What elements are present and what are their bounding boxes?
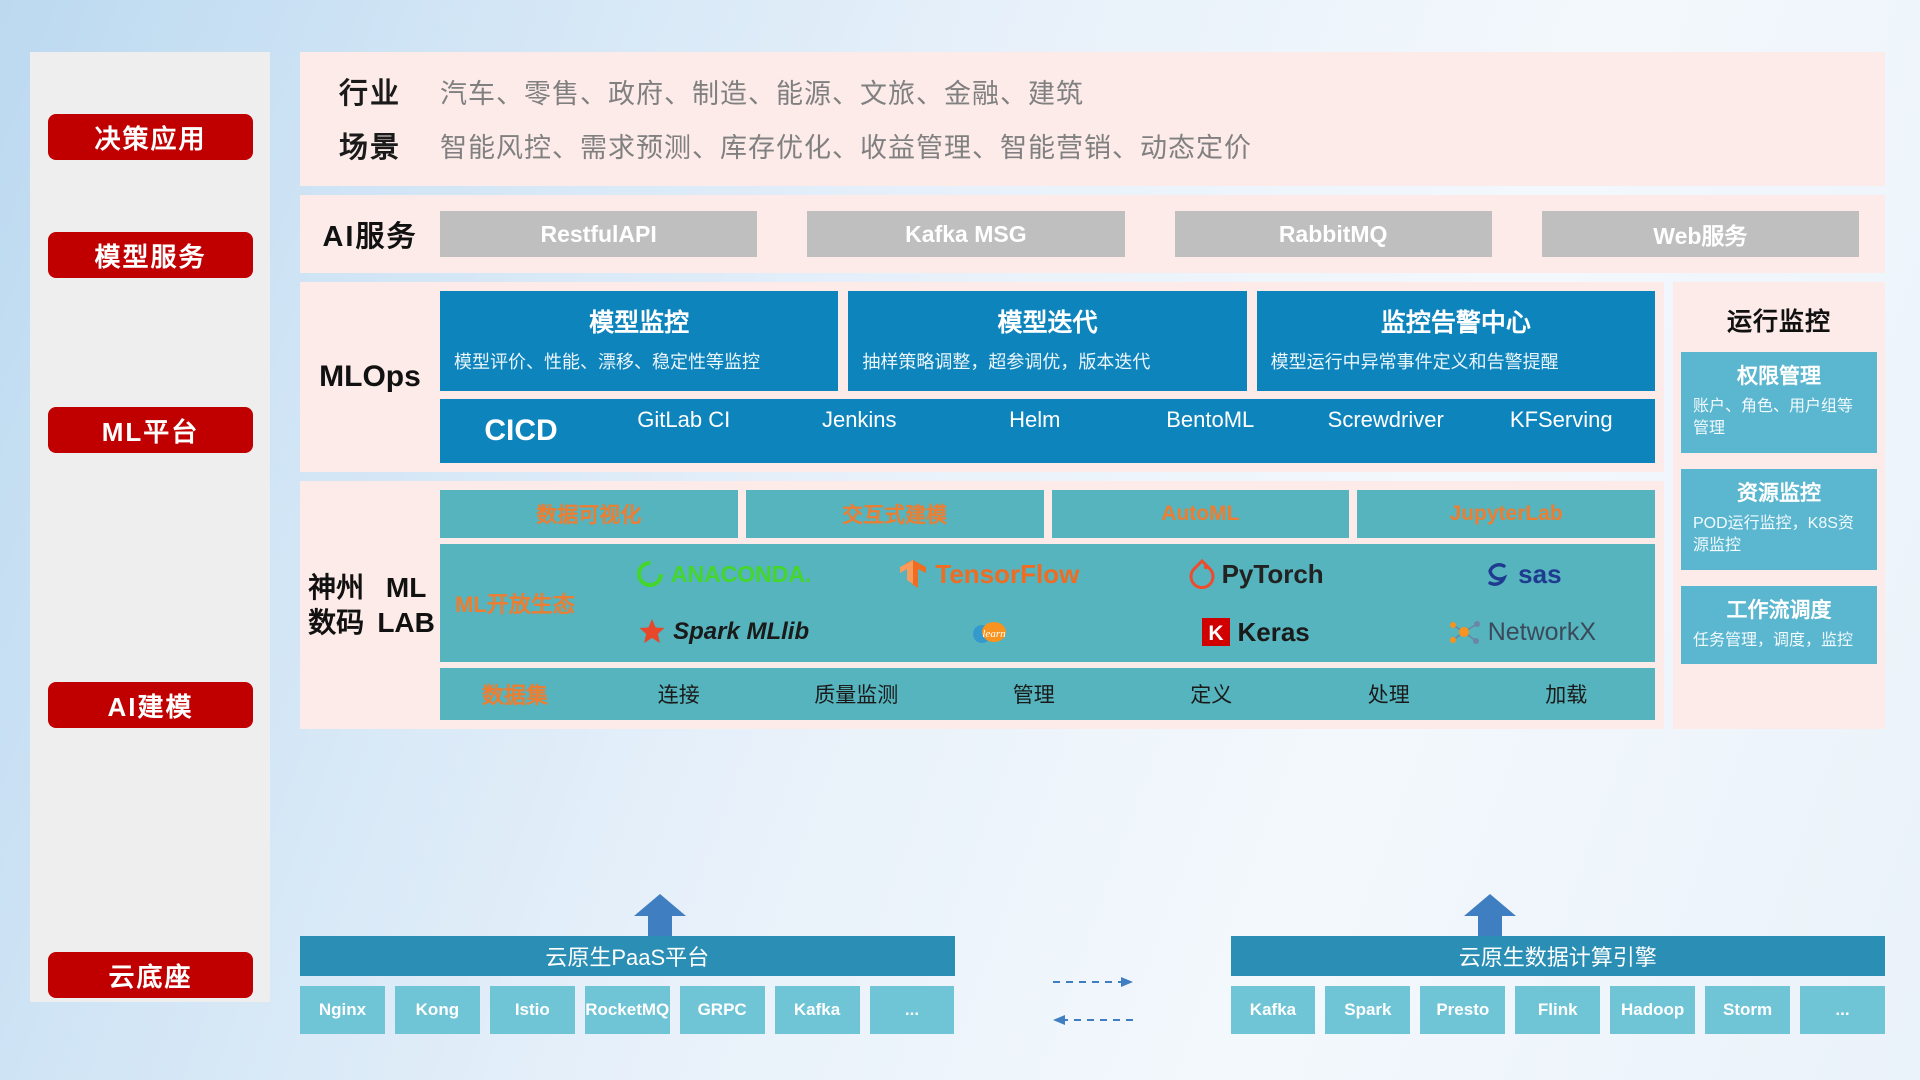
- chip-presto[interactable]: Presto: [1420, 986, 1505, 1034]
- monitor-card-desc: 账户、角色、用户组等管理: [1693, 396, 1865, 441]
- pytorch-icon: [1188, 559, 1216, 589]
- anaconda-label: ANACONDA.: [671, 561, 812, 588]
- dataset-key: 数据集: [440, 678, 590, 710]
- sas-logo: sas: [1389, 559, 1655, 590]
- networkx-logo: NetworkX: [1389, 617, 1655, 647]
- mlops-card-title: 模型迭代: [862, 303, 1232, 339]
- ai-service-restfulapi[interactable]: RestfulAPI: [440, 211, 757, 257]
- mlops-card-title: 模型监控: [454, 303, 824, 339]
- diagram-canvas: 决策应用 模型服务 ML平台 AI建模 云底座 行业 汽车、零售、政府、制造、能…: [0, 0, 1920, 1080]
- layer-label-model-service: 模型服务: [48, 232, 253, 278]
- ml-lab-tab-interactive-modeling[interactable]: 交互式建模: [746, 490, 1044, 538]
- cloud-paas-bar: 云原生PaaS平台: [300, 936, 955, 976]
- svg-text:learn: learn: [983, 628, 1007, 640]
- monitor-card-permission[interactable]: 权限管理 账户、角色、用户组等管理: [1681, 352, 1877, 453]
- mlops-cards: 模型监控 模型评价、性能、漂移、稳定性等监控 模型迭代 抽样策略调整，超参调优，…: [440, 291, 1655, 391]
- layer-label-ai-modeling: AI建模: [48, 682, 253, 728]
- up-arrow-right: [1464, 894, 1516, 936]
- bidirectional-connector: [1047, 936, 1139, 1046]
- monitor-card-title: 工作流调度: [1693, 594, 1865, 624]
- anaconda-logo: ANACONDA.: [590, 559, 856, 589]
- mlops-card-desc: 模型运行中异常事件定义和告警提醒: [1271, 349, 1641, 375]
- ml-open-ecosystem-row: ML开放生态 ANACONDA.: [440, 544, 1655, 662]
- mlops-card-model-iteration[interactable]: 模型迭代 抽样策略调整，超参调优，版本迭代: [848, 291, 1246, 391]
- pytorch-label: PyTorch: [1222, 559, 1324, 590]
- ml-lab-key-line1: 神州数码: [300, 570, 372, 640]
- mlops-card-desc: 抽样策略调整，超参调优，版本迭代: [862, 349, 1232, 375]
- monitor-card-title: 资源监控: [1693, 477, 1865, 507]
- layer-label-ml-platform: ML平台: [48, 407, 253, 453]
- chip-hadoop[interactable]: Hadoop: [1610, 986, 1695, 1034]
- dataset-row: 数据集 连接 质量监测 管理 定义 处理 加载: [440, 668, 1655, 720]
- monitor-card-resource[interactable]: 资源监控 POD运行监控，K8S资源监控: [1681, 469, 1877, 570]
- monitor-card-desc: POD运行监控，K8S资源监控: [1693, 513, 1865, 558]
- up-arrow-left: [634, 894, 686, 936]
- mlops-card-alert-center[interactable]: 监控告警中心 模型运行中异常事件定义和告警提醒: [1257, 291, 1655, 391]
- industry-key: 行业: [300, 70, 440, 112]
- cicd-item-helm[interactable]: Helm: [947, 403, 1123, 459]
- layer-label-column: 决策应用 模型服务 ML平台 AI建模 云底座: [30, 52, 270, 1002]
- chip-kong[interactable]: Kong: [395, 986, 480, 1034]
- chip-more-paas[interactable]: ...: [870, 986, 955, 1034]
- cloud-data-engine-column: 云原生数据计算引擎 Kafka Spark Presto Flink Hadoo…: [1231, 936, 1886, 1046]
- cloud-foundation-section: 云原生PaaS平台 Nginx Kong Istio RocketMQ GRPC…: [300, 890, 1885, 1046]
- runtime-monitor-panel: 运行监控 权限管理 账户、角色、用户组等管理 资源监控 POD运行监控，K8S资…: [1673, 282, 1885, 729]
- scenario-values: 智能风控、需求预测、库存优化、收益管理、智能营销、动态定价: [440, 126, 1252, 165]
- layer-label-cloud-base: 云底座: [48, 952, 253, 998]
- cloud-columns: 云原生PaaS平台 Nginx Kong Istio RocketMQ GRPC…: [300, 936, 1885, 1046]
- ai-service-band: AI服务 RestfulAPI Kafka MSG RabbitMQ Web服务: [300, 195, 1885, 273]
- spark-icon: [637, 617, 667, 647]
- industry-scenario-band: 行业 汽车、零售、政府、制造、能源、文旅、金融、建筑 场景 智能风控、需求预测、…: [300, 52, 1885, 186]
- tensorflow-label: TensorFlow: [935, 559, 1079, 590]
- anaconda-icon: [635, 559, 665, 589]
- mlops-card-model-monitoring[interactable]: 模型监控 模型评价、性能、漂移、稳定性等监控: [440, 291, 838, 391]
- dataset-item-manage[interactable]: 管理: [945, 679, 1123, 709]
- scenario-line: 场景 智能风控、需求预测、库存优化、收益管理、智能营销、动态定价: [300, 124, 1885, 166]
- scenario-key: 场景: [300, 124, 440, 166]
- dataset-item-quality-monitoring[interactable]: 质量监测: [768, 679, 946, 709]
- apache-spark-logo: Spark MLlib: [590, 617, 856, 647]
- cicd-title: CICD: [446, 414, 596, 448]
- mlops-card-desc: 模型评价、性能、漂移、稳定性等监控: [454, 349, 824, 375]
- keras-icon: K: [1201, 617, 1231, 647]
- ai-service-web[interactable]: Web服务: [1542, 211, 1859, 257]
- layer-label-decision-app: 决策应用: [48, 114, 253, 160]
- chip-kafka-engine[interactable]: Kafka: [1231, 986, 1316, 1034]
- ai-service-rabbitmq[interactable]: RabbitMQ: [1175, 211, 1492, 257]
- cicd-item-kfserving[interactable]: KFServing: [1474, 403, 1650, 459]
- ml-open-ecosystem-key: ML开放生态: [440, 587, 590, 619]
- dataset-item-connect[interactable]: 连接: [590, 679, 768, 709]
- mlops-card-title: 监控告警中心: [1271, 303, 1641, 339]
- ml-lab-content: 数据可视化 交互式建模 AutoML JupyterLab ML开放生态: [440, 490, 1655, 720]
- tensorflow-logo: TensorFlow: [856, 558, 1122, 590]
- scikit-learn-icon: learn: [972, 617, 1006, 647]
- tensorflow-icon: [899, 558, 929, 590]
- svg-text:K: K: [1209, 622, 1224, 645]
- networkx-label: NetworkX: [1488, 618, 1596, 646]
- cloud-paas-chips: Nginx Kong Istio RocketMQ GRPC Kafka ...: [300, 986, 955, 1034]
- chip-istio[interactable]: Istio: [490, 986, 575, 1034]
- mlops-band: MLOps 模型监控 模型评价、性能、漂移、稳定性等监控 模型迭代 抽样策略调整…: [300, 282, 1664, 472]
- chip-rocketmq[interactable]: RocketMQ: [585, 986, 670, 1034]
- cicd-item-screwdriver[interactable]: Screwdriver: [1298, 403, 1474, 459]
- ml-lab-tabs: 数据可视化 交互式建模 AutoML JupyterLab: [440, 490, 1655, 538]
- cloud-paas-column: 云原生PaaS平台 Nginx Kong Istio RocketMQ GRPC…: [300, 936, 955, 1046]
- industry-values: 汽车、零售、政府、制造、能源、文旅、金融、建筑: [440, 72, 1084, 111]
- runtime-monitor-title: 运行监控: [1727, 302, 1831, 338]
- dataset-item-process[interactable]: 处理: [1300, 679, 1478, 709]
- mlops-key: MLOps: [300, 291, 440, 463]
- pytorch-logo: PyTorch: [1123, 559, 1389, 590]
- keras-label: Keras: [1237, 617, 1309, 648]
- dataset-item-define[interactable]: 定义: [1123, 679, 1301, 709]
- chip-flink[interactable]: Flink: [1515, 986, 1600, 1034]
- connector-arrows: [300, 890, 1885, 936]
- ml-lab-tab-automl[interactable]: AutoML: [1052, 490, 1350, 538]
- spark-label: Spark MLlib: [673, 618, 809, 646]
- cicd-item-gitlab-ci[interactable]: GitLab CI: [596, 403, 772, 459]
- ml-lab-band: 神州数码 ML LAB 数据可视化 交互式建模 AutoML JupyterLa…: [300, 481, 1664, 729]
- scikit-learn-logo: learn: [856, 617, 1122, 647]
- chip-grpc[interactable]: GRPC: [680, 986, 765, 1034]
- chip-kafka-paas[interactable]: Kafka: [775, 986, 860, 1034]
- keras-logo: K Keras: [1123, 617, 1389, 648]
- cicd-item-jenkins[interactable]: Jenkins: [772, 403, 948, 459]
- ml-lab-key: 神州数码 ML LAB: [300, 490, 440, 720]
- ml-lab-tab-data-viz[interactable]: 数据可视化: [440, 490, 738, 538]
- chip-nginx[interactable]: Nginx: [300, 986, 385, 1034]
- ai-service-kafka-msg[interactable]: Kafka MSG: [807, 211, 1124, 257]
- networkx-icon: [1448, 617, 1482, 647]
- mlops-content: 模型监控 模型评价、性能、漂移、稳定性等监控 模型迭代 抽样策略调整，超参调优，…: [440, 291, 1655, 463]
- industry-line: 行业 汽车、零售、政府、制造、能源、文旅、金融、建筑: [300, 70, 1885, 112]
- cicd-item-bentoml[interactable]: BentoML: [1123, 403, 1299, 459]
- ml-lab-tab-jupyterlab[interactable]: JupyterLab: [1357, 490, 1655, 538]
- dashed-arrows: [1047, 936, 1139, 1046]
- sas-icon: [1482, 559, 1512, 589]
- cloud-data-engine-chips: Kafka Spark Presto Flink Hadoop Storm ..…: [1231, 986, 1886, 1034]
- platform-left-column: MLOps 模型监控 模型评价、性能、漂移、稳定性等监控 模型迭代 抽样策略调整…: [300, 282, 1664, 729]
- ml-open-ecosystem-logos: ANACONDA. TensorFlow: [590, 545, 1655, 661]
- cicd-row: CICD GitLab CI Jenkins Helm BentoML Scre…: [440, 399, 1655, 463]
- cloud-data-engine-bar: 云原生数据计算引擎: [1231, 936, 1886, 976]
- monitor-card-title: 权限管理: [1693, 360, 1865, 390]
- chip-storm[interactable]: Storm: [1705, 986, 1790, 1034]
- ai-service-items: RestfulAPI Kafka MSG RabbitMQ Web服务: [440, 211, 1859, 257]
- dataset-item-load[interactable]: 加载: [1478, 679, 1656, 709]
- ai-service-key: AI服务: [300, 213, 440, 255]
- sas-label: sas: [1518, 559, 1561, 590]
- chip-spark[interactable]: Spark: [1325, 986, 1410, 1034]
- chip-more-engine[interactable]: ...: [1800, 986, 1885, 1034]
- monitor-card-desc: 任务管理，调度，监控: [1693, 630, 1865, 652]
- ml-lab-key-line2: ML LAB: [372, 570, 440, 640]
- platform-middle-section: MLOps 模型监控 模型评价、性能、漂移、稳定性等监控 模型迭代 抽样策略调整…: [300, 282, 1885, 729]
- monitor-card-workflow[interactable]: 工作流调度 任务管理，调度，监控: [1681, 586, 1877, 664]
- architecture-stack: 行业 汽车、零售、政府、制造、能源、文旅、金融、建筑 场景 智能风控、需求预测、…: [300, 52, 1885, 729]
